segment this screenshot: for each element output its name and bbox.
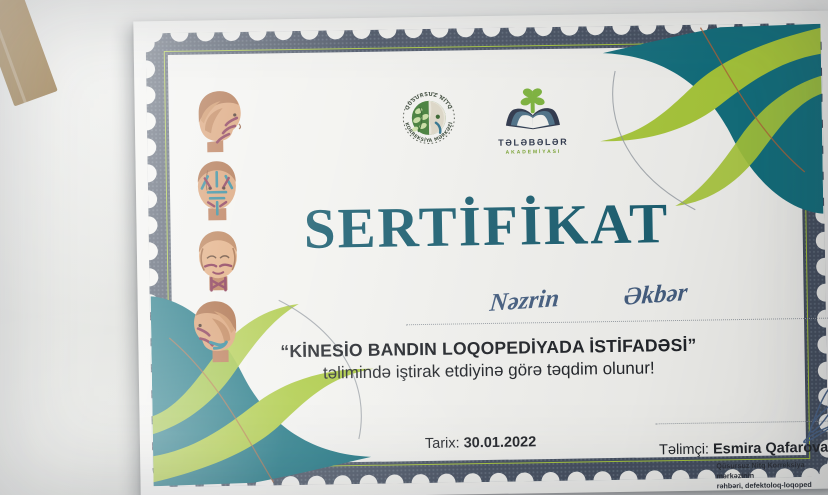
academy-book-icon (493, 85, 572, 134)
recipient-first-name: Nəzrin (489, 285, 561, 318)
trainer-line: Təlimçi: Esmira Qafarova (659, 440, 828, 459)
academy-subtitle: AKADEMİYASI (494, 149, 572, 156)
qusursuz-nitq-korreksiya-merkezi-logo: QÜSURSUZ NİTQ KORREKSİYA MƏRKƏZİ (397, 86, 460, 149)
telebeler-akademiyasi-logo: TƏLƏBƏLƏR AKADEMİYASI (493, 85, 572, 154)
academy-title: TƏLƏBƏLƏR (494, 138, 572, 148)
trainer-label: Təlimçi: (659, 442, 709, 459)
face-profile-right-taped-icon (176, 88, 255, 153)
trainer-role: Qüsursuz Nitq Korreksiya mərkəzinin rəhb… (716, 459, 828, 492)
certificate-title: SERTİFİKAT (136, 189, 828, 265)
photo-canvas: QÜSURSUZ NİTQ KORREKSİYA MƏRKƏZİ (0, 0, 828, 495)
recipient-last-name: Əkbər (623, 279, 689, 312)
certificate-sheet: QÜSURSUZ NİTQ KORREKSİYA MƏRKƏZİ (133, 11, 828, 495)
trainer-name: Esmira Qafarova (713, 440, 828, 458)
date-value: 30.01.2022 (464, 434, 537, 451)
issue-date: Tarix: 30.01.2022 (425, 434, 537, 452)
date-label: Tarix: (425, 435, 460, 452)
trainer-role-line-1: Qüsursuz Nitq Korreksiya mərkəzinin (716, 459, 828, 481)
trainer-role-line-2: rəhbəri, defektoloq-loqoped (717, 480, 828, 492)
